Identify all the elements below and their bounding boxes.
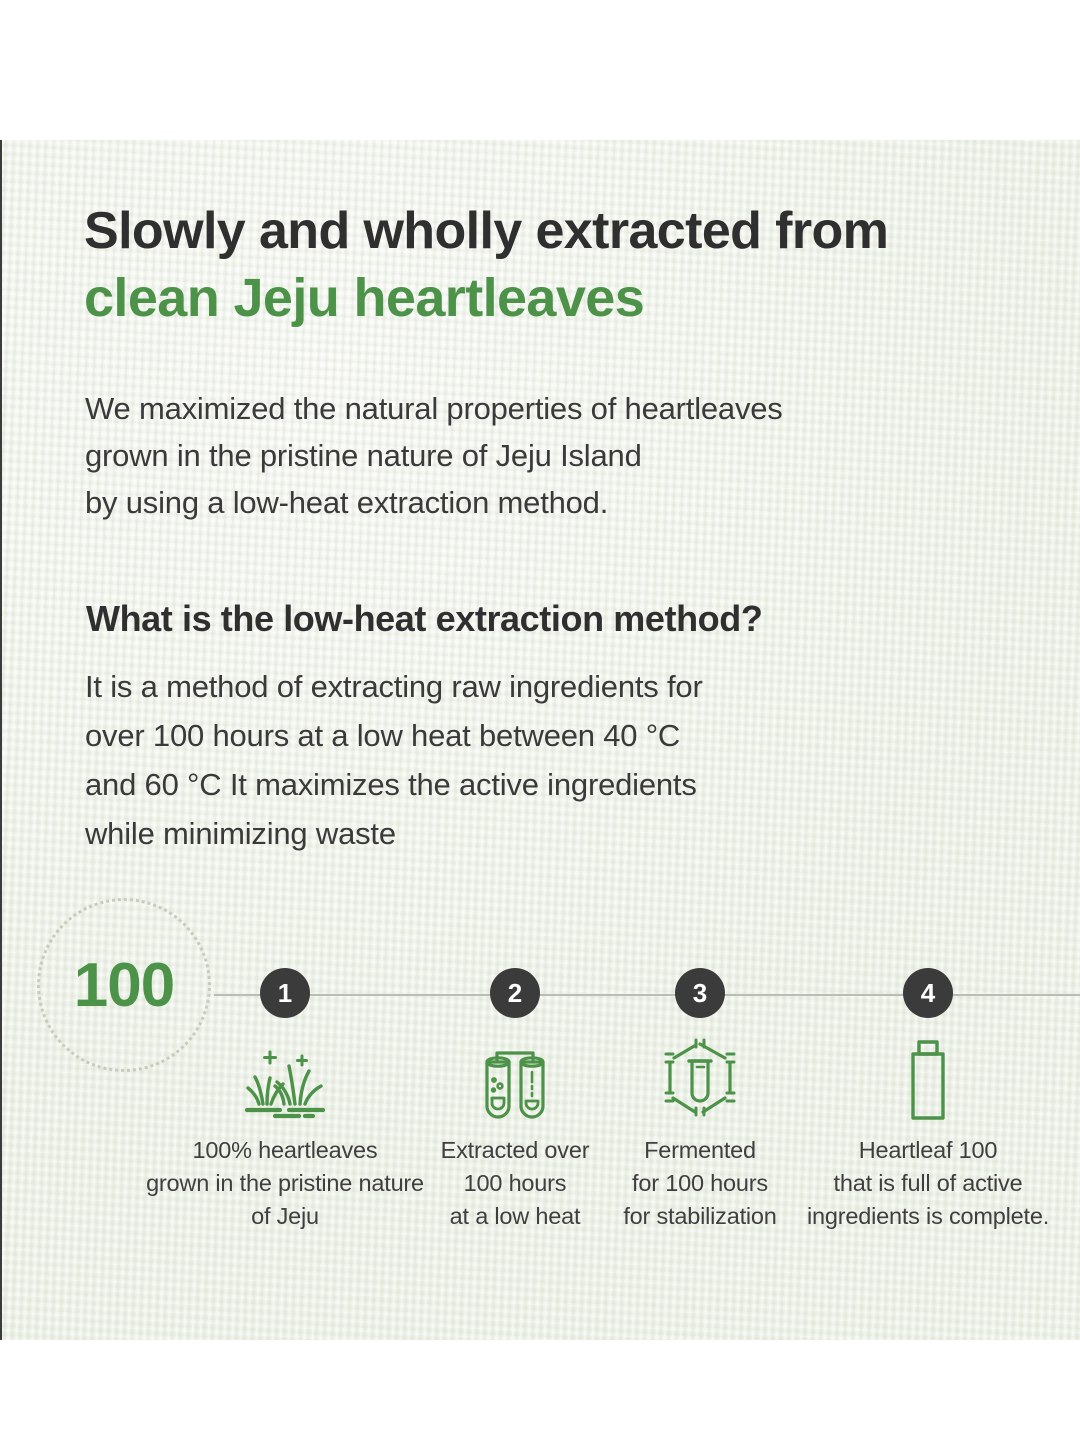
intro-line-1: We maximized the natural properties of h… <box>85 385 985 432</box>
question-paragraph: It is a method of extracting raw ingredi… <box>85 662 1015 858</box>
step-caption-4: Heartleaf 100 that is full of active ing… <box>758 1134 1080 1233</box>
product-infographic-page: Slowly and wholly extracted from clean J… <box>0 0 1080 1440</box>
grass-sprouts-icon <box>237 1032 333 1122</box>
content-area: Slowly and wholly extracted from clean J… <box>0 140 1080 1340</box>
question-heading: What is the low-heat extraction method? <box>86 598 762 640</box>
step-number-badge-2: 2 <box>490 968 540 1018</box>
intro-line-2: grown in the pristine nature of Jeju Isl… <box>85 432 985 479</box>
molecule-hexagon-test-tube-icon <box>652 1032 748 1122</box>
process-steps: 1 <box>150 880 1080 1220</box>
question-line-1: It is a method of extracting raw ingredi… <box>85 662 1015 711</box>
step-number-badge-1: 1 <box>260 968 310 1018</box>
step-number-badge-4: 4 <box>903 968 953 1018</box>
intro-line-3: by using a low-heat extraction method. <box>85 479 985 526</box>
intro-paragraph: We maximized the natural properties of h… <box>85 385 985 526</box>
test-tubes-icon <box>467 1032 563 1122</box>
question-line-2: over 100 hours at a low heat between 40 … <box>85 711 1015 760</box>
product-bottle-icon <box>880 1032 976 1122</box>
headline-block: Slowly and wholly extracted from clean J… <box>84 202 1014 329</box>
headline-line-2: clean Jeju heartleaves <box>84 268 1014 328</box>
question-line-3: and 60 °C It maximizes the active ingred… <box>85 760 1015 809</box>
step-caption-4-line-1: Heartleaf 100 <box>758 1134 1080 1167</box>
step-caption-4-line-3: ingredients is complete. <box>758 1200 1080 1233</box>
step-number-badge-3: 3 <box>675 968 725 1018</box>
headline-line-1: Slowly and wholly extracted from <box>84 202 1014 260</box>
process-timeline: 100 1 <box>0 880 1080 1220</box>
step-caption-4-line-2: that is full of active <box>758 1167 1080 1200</box>
question-line-4: while minimizing waste <box>85 809 1015 858</box>
